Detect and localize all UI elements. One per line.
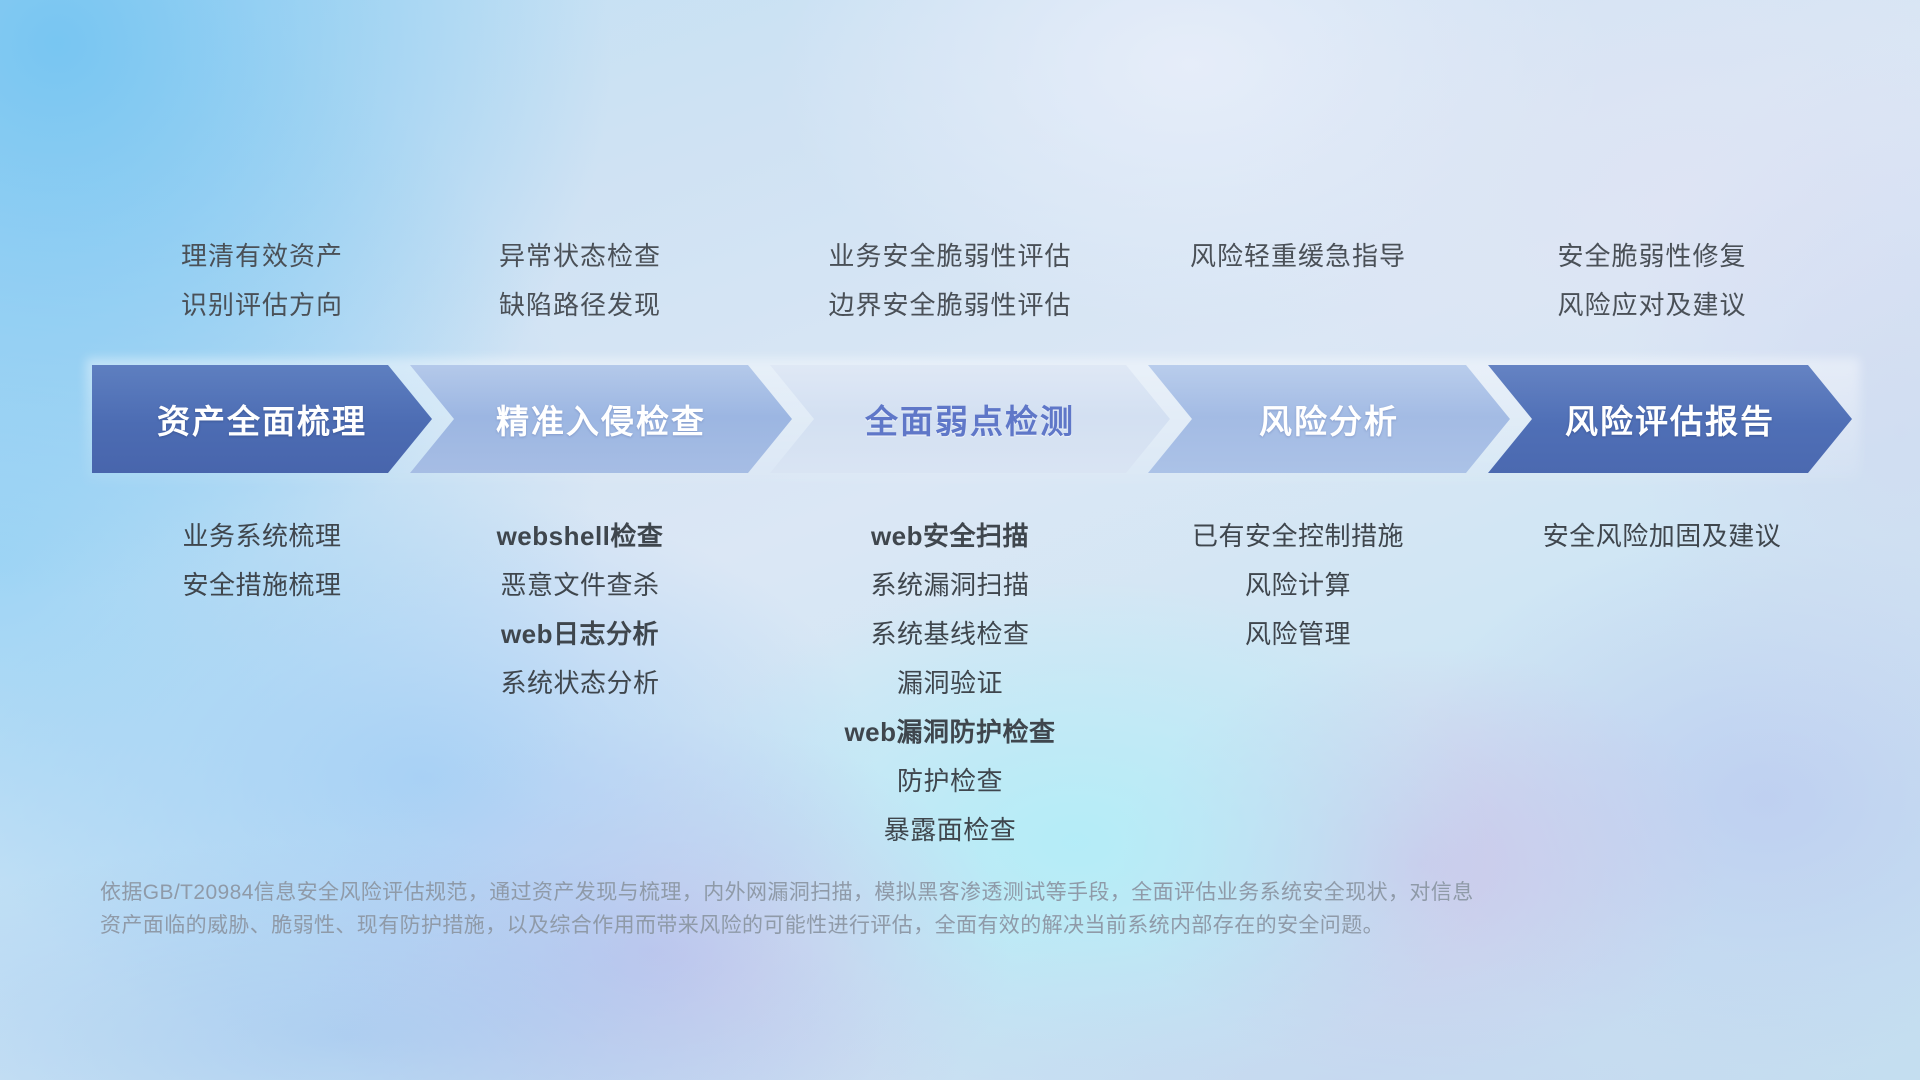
stage-banner: 资产全面梳理 精准入侵检查 全面弱点检测 风险分析 风险评估报告 [92,365,1852,473]
task-item: 系统漏洞扫描 [760,561,1140,610]
task-item: 系统基线检查 [760,610,1140,659]
outcome-col-4: 安全脆弱性修复 风险应对及建议 [1482,232,1822,330]
outcome-text: 安全脆弱性修复 [1482,232,1822,281]
task-item: 系统状态分析 [410,659,750,708]
stage-title: 精准入侵检查 [496,395,706,443]
outcome-col-1: 异常状态检查 缺陷路径发现 [410,232,750,330]
outcome-text: 风险应对及建议 [1482,281,1822,330]
task-item: web日志分析 [410,610,750,659]
task-item: web漏洞防护检查 [760,708,1140,757]
outcomes-row: 理清有效资产 识别评估方向 异常状态检查 缺陷路径发现 业务安全脆弱性评估 边界… [0,232,1920,342]
task-item: 防护检查 [760,757,1140,806]
task-col-0: 业务系统梳理 安全措施梳理 [92,512,432,610]
task-item: 漏洞验证 [760,659,1140,708]
stage-chevron-2[interactable]: 全面弱点检测 [770,365,1170,473]
process-diagram: 理清有效资产 识别评估方向 异常状态检查 缺陷路径发现 业务安全脆弱性评估 边界… [0,0,1920,1080]
task-item: webshell检查 [410,512,750,561]
stage-title: 全面弱点检测 [865,395,1075,443]
task-item: 已有安全控制措施 [1128,512,1468,561]
footer-line: 依据GB/T20984信息安全风险评估规范，通过资产发现与梳理，内外网漏洞扫描，… [100,876,1720,909]
task-col-4: 安全风险加固及建议 [1482,512,1842,561]
task-item: 安全风险加固及建议 [1482,512,1842,561]
outcome-text: 识别评估方向 [92,281,432,330]
task-col-1: webshell检查 恶意文件查杀 web日志分析 系统状态分析 [410,512,750,708]
outcome-text: 业务安全脆弱性评估 [760,232,1140,281]
outcome-col-2: 业务安全脆弱性评估 边界安全脆弱性评估 [760,232,1140,330]
stage-chevron-1[interactable]: 精准入侵检查 [410,365,792,473]
task-col-2: web安全扫描 系统漏洞扫描 系统基线检查 漏洞验证 web漏洞防护检查 防护检… [760,512,1140,855]
task-item: 安全措施梳理 [92,561,432,610]
outcome-text: 缺陷路径发现 [410,281,750,330]
outcome-col-0: 理清有效资产 识别评估方向 [92,232,432,330]
task-item: 风险计算 [1128,561,1468,610]
task-item: 暴露面检查 [760,806,1140,855]
stage-title: 资产全面梳理 [157,395,367,443]
task-item: 恶意文件查杀 [410,561,750,610]
task-item: web安全扫描 [760,512,1140,561]
stage-chevron-4[interactable]: 风险评估报告 [1488,365,1852,473]
outcome-text: 异常状态检查 [410,232,750,281]
outcome-col-3: 风险轻重缓急指导 [1128,232,1468,281]
outcome-text: 风险轻重缓急指导 [1128,232,1468,281]
stage-title: 风险分析 [1259,395,1399,443]
task-item: 业务系统梳理 [92,512,432,561]
stage-chevron-3[interactable]: 风险分析 [1148,365,1510,473]
task-item: 风险管理 [1128,610,1468,659]
footer-note: 依据GB/T20984信息安全风险评估规范，通过资产发现与梳理，内外网漏洞扫描，… [100,876,1720,942]
task-col-3: 已有安全控制措施 风险计算 风险管理 [1128,512,1468,659]
stage-chevron-0[interactable]: 资产全面梳理 [92,365,432,473]
outcome-text: 边界安全脆弱性评估 [760,281,1140,330]
tasks-row: 业务系统梳理 安全措施梳理 webshell检查 恶意文件查杀 web日志分析 … [0,512,1920,852]
footer-line: 资产面临的威胁、脆弱性、现有防护措施，以及综合作用而带来风险的可能性进行评估，全… [100,909,1720,942]
stage-title: 风险评估报告 [1565,395,1775,443]
outcome-text: 理清有效资产 [92,232,432,281]
